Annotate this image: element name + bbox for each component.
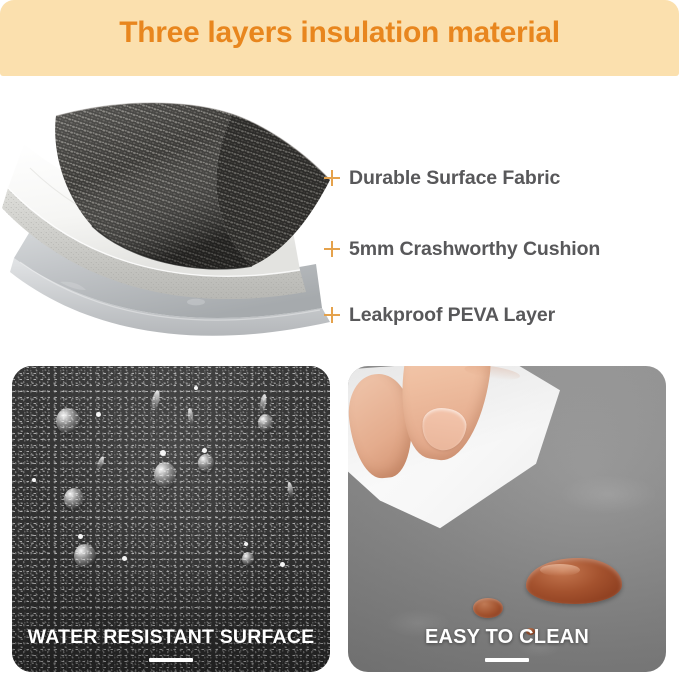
spill-large [526, 558, 622, 604]
header-banner: Three layers insulation material [0, 0, 679, 76]
caption-underline [485, 658, 529, 662]
panel-caption: EASY TO CLEAN [348, 626, 666, 662]
feature-item-durable-surface-fabric: Durable Surface Fabric [322, 165, 560, 191]
panel-caption-text: EASY TO CLEAN [348, 626, 666, 649]
spill-medium [473, 598, 503, 618]
plus-icon [322, 168, 342, 188]
plus-icon [322, 305, 342, 325]
panel-caption: WATER RESISTANT SURFACE [12, 626, 330, 662]
feature-label: 5mm Crashworthy Cushion [349, 238, 600, 261]
caption-underline [149, 658, 193, 662]
hand-holding-cloth [356, 366, 528, 498]
plus-icon [322, 239, 342, 259]
water-resistant-panel: WATER RESISTANT SURFACE [12, 366, 330, 672]
layers-section: Durable Surface Fabric 5mm Crashworthy C… [0, 76, 679, 358]
panel-caption-text: WATER RESISTANT SURFACE [12, 626, 330, 649]
bottom-panels: WATER RESISTANT SURFACE EASY TO CLEAN [0, 358, 679, 678]
feature-item-leakproof-peva-layer: Leakproof PEVA Layer [322, 302, 555, 328]
feature-item-crashworthy-cushion: 5mm Crashworthy Cushion [322, 236, 600, 262]
layers-svg [0, 76, 340, 358]
page-title: Three layers insulation material [119, 16, 560, 50]
feature-label: Leakproof PEVA Layer [349, 304, 555, 327]
feature-list: Durable Surface Fabric 5mm Crashworthy C… [322, 76, 679, 358]
easy-to-clean-panel: EASY TO CLEAN [348, 366, 666, 672]
feature-label: Durable Surface Fabric [349, 167, 560, 190]
knuckle-crease [464, 366, 521, 382]
layered-material-illustration [0, 76, 340, 358]
